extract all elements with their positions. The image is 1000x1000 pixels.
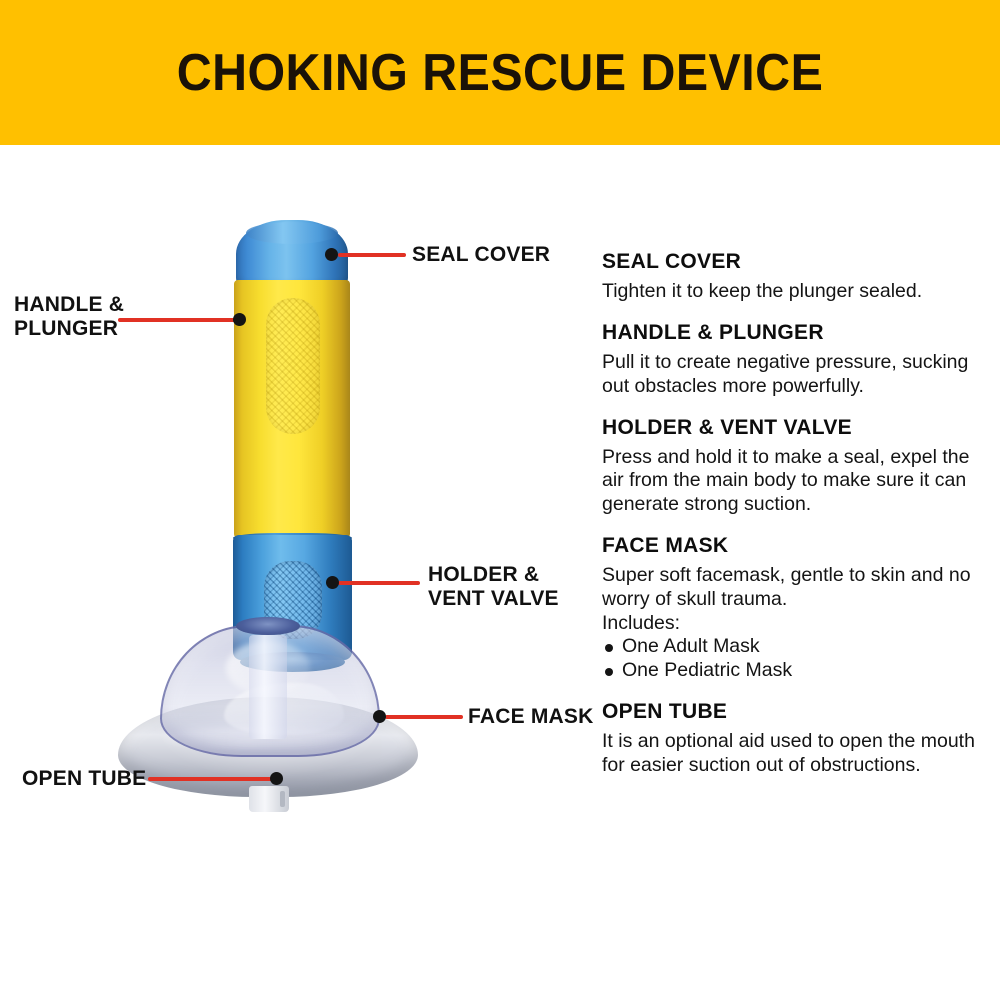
section-heading-holder-vent-valve: HOLDER & VENT VALVE (602, 416, 994, 439)
section-body-handle-plunger: Pull it to create negative pressure, suc… (602, 351, 994, 399)
mask-inner-tube (249, 635, 287, 739)
section-heading-seal-cover: SEAL COVER (602, 250, 994, 273)
section-handle-plunger: HANDLE & PLUNGER Pull it to create negat… (602, 321, 994, 399)
product-infographic: CHOKING RESCUE DEVICE (0, 0, 1000, 1000)
mask-collar (236, 617, 300, 635)
section-open-tube: OPEN TUBE It is an optional aid used to … (602, 700, 994, 778)
section-includes-label: Includes: (602, 612, 994, 636)
leader-dot-seal-cover (325, 248, 338, 261)
section-body-holder-vent-valve: Press and hold it to make a seal, expel … (602, 446, 994, 517)
header-banner: CHOKING RESCUE DEVICE (0, 0, 1000, 145)
section-body-open-tube: It is an optional aid used to open the m… (602, 730, 994, 778)
seal-cover-top-face (246, 222, 338, 244)
leader-dot-holder-vent-valve (326, 576, 339, 589)
leader-line-handle-plunger (118, 318, 236, 322)
face-mask-includes-list: One Adult Mask One Pediatric Mask (602, 635, 994, 683)
leader-line-holder-vent-valve (338, 581, 420, 585)
leader-dot-open-tube (270, 772, 283, 785)
section-body-face-mask: Super soft facemask, gentle to skin and … (602, 564, 994, 612)
leader-line-face-mask (385, 715, 463, 719)
callout-label-seal-cover: SEAL COVER (412, 243, 550, 267)
open-tube-slot (280, 791, 285, 807)
product-illustration: SEAL COVER HANDLE & PLUNGER HOLDER & VEN… (0, 145, 600, 1000)
section-holder-vent-valve: HOLDER & VENT VALVE Press and hold it to… (602, 416, 994, 517)
handle-grip-texture (266, 298, 320, 434)
leader-line-seal-cover (338, 253, 406, 257)
list-item: One Adult Mask (602, 635, 994, 659)
callout-label-face-mask: FACE MASK (468, 705, 593, 729)
callout-label-open-tube: OPEN TUBE (22, 767, 146, 791)
leader-dot-face-mask (373, 710, 386, 723)
callout-label-holder-vent-valve: HOLDER & VENT VALVE (428, 563, 559, 612)
leader-line-open-tube (148, 777, 273, 781)
section-heading-handle-plunger: HANDLE & PLUNGER (602, 321, 994, 344)
description-column: SEAL COVER Tighten it to keep the plunge… (602, 250, 994, 778)
handle-plunger-part (234, 280, 350, 538)
section-body-seal-cover: Tighten it to keep the plunger sealed. (602, 280, 994, 304)
callout-label-handle-plunger: HANDLE & PLUNGER (14, 293, 124, 342)
section-heading-open-tube: OPEN TUBE (602, 700, 994, 723)
list-item: One Pediatric Mask (602, 659, 994, 683)
leader-dot-handle-plunger (233, 313, 246, 326)
section-heading-face-mask: FACE MASK (602, 534, 994, 557)
section-seal-cover: SEAL COVER Tighten it to keep the plunge… (602, 250, 994, 304)
page-title: CHOKING RESCUE DEVICE (35, 0, 965, 145)
section-face-mask: FACE MASK Super soft facemask, gentle to… (602, 534, 994, 683)
